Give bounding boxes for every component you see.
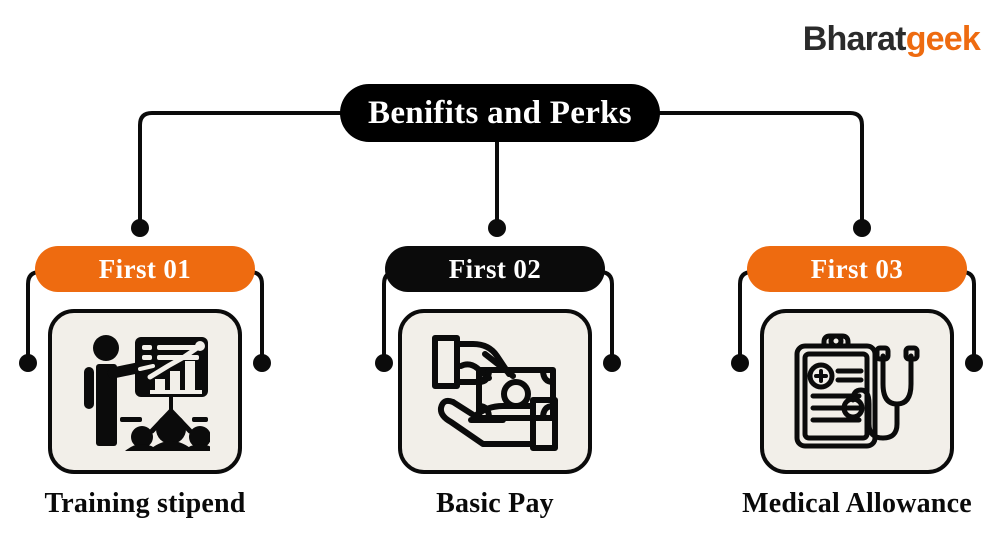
dot-step-3-top [853, 219, 871, 237]
benefit-card-1[interactable] [48, 309, 242, 474]
brand-name-primary: Bharat [803, 20, 906, 58]
step-badge-label-1: First 01 [99, 254, 191, 285]
page-title: Benifits and Perks [368, 95, 632, 132]
money-handoff-icon [431, 332, 559, 452]
wire-title-to-step-1 [140, 113, 340, 222]
benefit-caption-3: Medical Allowance [742, 488, 972, 520]
benefit-column-3: First 03 [712, 246, 1002, 520]
benefit-column-1: First 01 [0, 246, 290, 520]
brand-name-accent: geek [906, 20, 980, 58]
benefit-card-2[interactable] [398, 309, 592, 474]
step-badge-label-3: First 03 [811, 254, 903, 285]
benefit-caption-1: Training stipend [44, 488, 245, 520]
wire-title-to-step-3 [660, 113, 862, 222]
step-badge-1[interactable]: First 01 [35, 246, 255, 292]
training-presentation-icon [80, 333, 210, 451]
dot-step-2-top [488, 219, 506, 237]
benefit-column-2: First 02 [350, 246, 640, 520]
dot-step-1-top [131, 219, 149, 237]
medical-clipboard-stethoscope-icon [791, 332, 923, 452]
main-title-banner: Benifits and Perks [340, 84, 660, 142]
infographic-canvas: Bharatgeek [0, 0, 1002, 553]
brand-logo: Bharatgeek [803, 22, 980, 56]
benefit-card-3[interactable] [760, 309, 954, 474]
step-badge-2[interactable]: First 02 [385, 246, 605, 292]
step-badge-3[interactable]: First 03 [747, 246, 967, 292]
benefit-caption-2: Basic Pay [436, 488, 554, 520]
step-badge-label-2: First 02 [449, 254, 541, 285]
